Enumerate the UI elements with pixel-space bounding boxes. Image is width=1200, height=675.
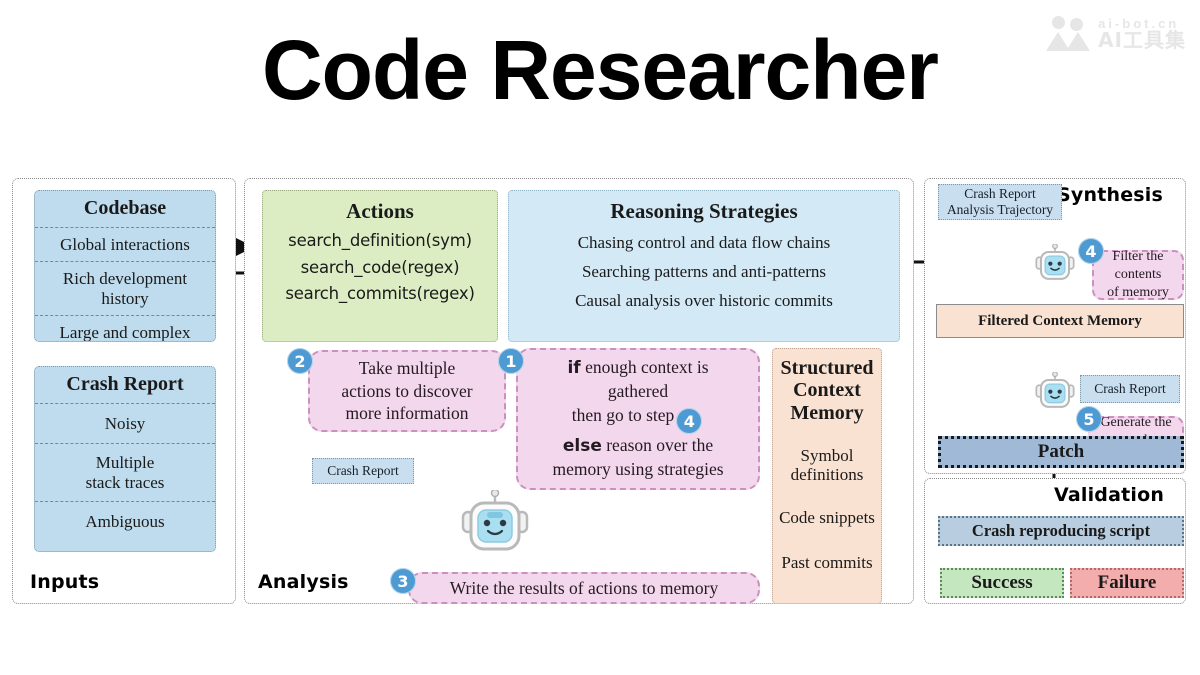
crash-report-title: Crash Report [35,367,215,404]
strategies-item-1: Chasing control and data flow chains [509,228,899,257]
step-1-line-2: gathered [608,381,668,401]
strategies-title: Reasoning Strategies [509,199,899,224]
codebase-card: Codebase Global interactions Rich develo… [34,190,216,342]
step-5-badge: 5 [1076,406,1102,432]
codebase-row-1: Global interactions [35,228,215,262]
codebase-row-3: Large and complex [35,316,215,342]
memory-row-1: Symbol [773,446,881,465]
crash-report-row-2: Multiplestack traces [35,444,215,502]
step-1-badge: 1 [498,348,524,374]
success-box: Success [940,568,1064,598]
actions-block: Actions search_definition(sym) search_co… [262,190,498,342]
step-4-callout: Filter the contentsof memory [1092,250,1184,300]
memory-title-1: Structured [773,357,881,379]
memory-title-2: Context [773,379,881,401]
step-3-badge: 3 [390,568,416,594]
actions-title: Actions [263,199,497,224]
page-title: Code Researcher [0,28,1200,112]
actions-item-2: search_code(regex) [263,255,497,282]
memory-row-3: Code snippets [773,508,881,527]
structured-context-memory-block: Structured Context Memory Symbol definit… [772,348,882,604]
analysis-crash-report-tag: Crash Report [312,458,414,484]
watermark-brand: AI工具集 [1098,30,1186,51]
analysis-agent-robot-icon [459,490,531,552]
step-2-callout: Take multipleactions to discovermore inf… [308,350,506,432]
step-1-goto-badge: 4 [676,408,702,434]
synthesis-input-line-2: Analysis Trajectory [947,202,1053,218]
strategies-item-2: Searching patterns and anti-patterns [509,257,899,286]
step-1-line-4: reason over the [602,435,713,455]
reasoning-strategies-block: Reasoning Strategies Chasing control and… [508,190,900,342]
patch-box: Patch [938,436,1184,468]
step-1-line-5: memory using strategies [552,459,723,479]
validation-panel-label: Validation [1054,484,1164,506]
watermark: ai-bot.cn AI工具集 [1046,16,1186,52]
filtered-context-memory-box: Filtered Context Memory [936,304,1184,338]
step-1-line-1: enough context is [581,357,709,377]
crash-reproducing-script-box: Crash reproducing script [938,516,1184,546]
else-keyword: else [563,436,602,456]
memory-row-4: Past commits [773,553,881,572]
step-4-badge: 4 [1078,238,1104,264]
strategies-item-3: Causal analysis over historic commits [509,286,899,315]
analysis-panel-label: Analysis [258,571,349,593]
crash-report-card: Crash Report Noisy Multiplestack traces … [34,366,216,552]
step-2-text: Take multipleactions to discovermore inf… [341,357,472,425]
synthesis-panel-label: Synthesis [1057,184,1163,206]
synthesis-crash-report-tag: Crash Report [1080,375,1180,403]
step-4-text: Filter the contentsof memory [1102,248,1174,303]
inputs-panel-label: Inputs [30,571,99,593]
codebase-row-2: Rich developmenthistory [35,262,215,316]
architecture-diagram: Inputs Codebase Global interactions Rich… [8,172,1192,612]
crash-report-row-1: Noisy [35,404,215,444]
watermark-logo-icon [1046,16,1090,52]
failure-box: Failure [1070,568,1184,598]
actions-item-1: search_definition(sym) [263,228,497,255]
synthesis-input-tag: Crash Report Analysis Trajectory [938,184,1062,220]
crash-report-row-3: Ambiguous [35,502,215,541]
step-2-badge: 2 [287,348,313,374]
step-1-callout: if enough context is gathered then go to… [516,348,760,490]
step-3-callout: Write the results of actions to memory [408,572,760,604]
synthesis-input-line-1: Crash Report [964,186,1036,202]
step-1-text: if enough context is gathered then go to… [552,356,723,481]
actions-item-3: search_commits(regex) [263,281,497,308]
synthesis-patch-robot-icon [1034,372,1076,409]
codebase-title: Codebase [35,191,215,228]
step-1-line-3: then go to step [572,405,675,425]
synthesis-filter-robot-icon [1034,244,1076,281]
memory-row-2: definitions [773,465,881,484]
if-keyword: if [567,358,580,378]
memory-title-3: Memory [773,402,881,424]
